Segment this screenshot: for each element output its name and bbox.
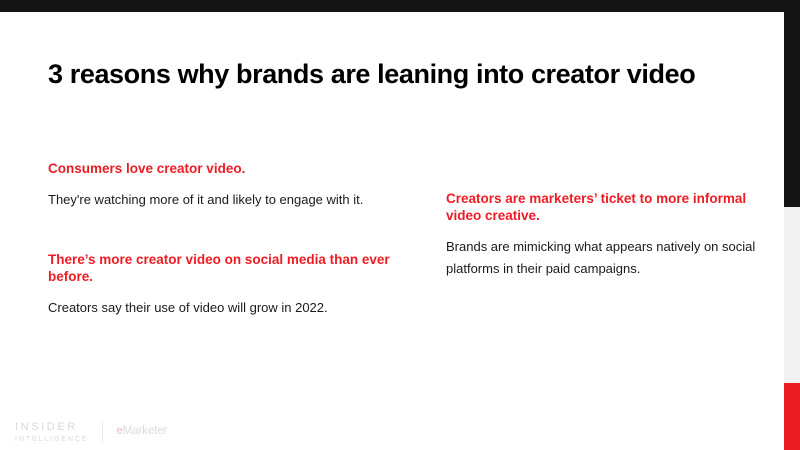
footer-logo-lockup: INSIDER INTELLIGENCE eMarketer [15,418,167,446]
scrollbar-track[interactable] [784,207,800,383]
reason-body: They're watching more of it and likely t… [48,189,400,211]
logo-divider [102,421,103,443]
reason-heading: Consumers love creator video. [48,160,400,177]
scrollbar-thumb[interactable] [784,383,800,450]
scrollbar[interactable] [784,0,800,450]
insider-intelligence-logo: INSIDER INTELLIGENCE [15,422,88,443]
insider-logo-line1: INSIDER [15,422,88,433]
slide-canvas: 3 reasons why brands are leaning into cr… [0,12,784,450]
reasons-column-right: Creators are marketers’ ticket to more i… [446,190,756,280]
reasons-column-left: Consumers love creator video. They're wa… [48,160,400,319]
slide-viewer: 3 reasons why brands are leaning into cr… [0,0,800,450]
emarketer-logo: eMarketer [116,426,167,438]
reason-heading: Creators are marketers’ ticket to more i… [446,190,756,224]
reason-item: Creators are marketers’ ticket to more i… [446,190,756,280]
reason-heading: There’s more creator video on social med… [48,251,400,285]
emarketer-logo-name: Marketer [123,425,168,437]
reason-body: Brands are mimicking what appears native… [446,236,756,280]
browser-chrome-bar [0,0,800,12]
reason-item: Consumers love creator video. They're wa… [48,160,400,211]
scrollbar-dark-region [784,0,800,207]
reason-body: Creators say their use of video will gro… [48,297,400,319]
insider-logo-line2: INTELLIGENCE [15,436,88,443]
reason-item: There’s more creator video on social med… [48,251,400,319]
page-title: 3 reasons why brands are leaning into cr… [48,58,728,90]
